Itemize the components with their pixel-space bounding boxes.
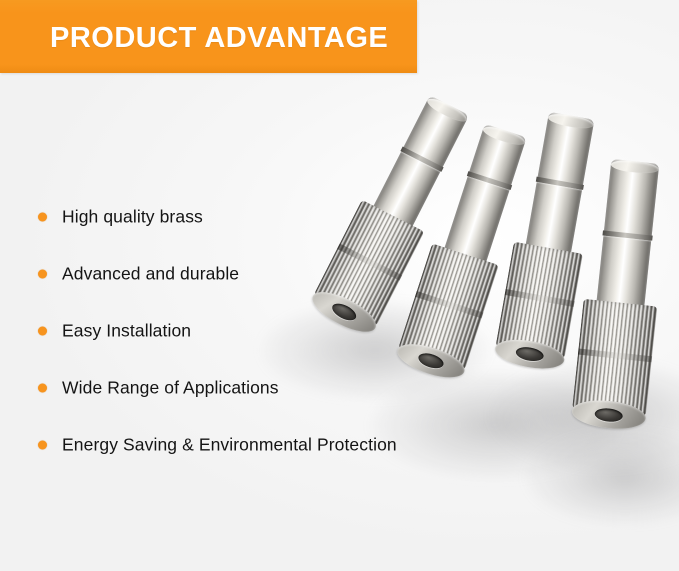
list-item-label: Advanced and durable — [62, 263, 239, 284]
list-item: Easy Installation — [0, 302, 520, 359]
bullet-dot-icon — [38, 212, 47, 221]
nozzle-4-shaft-top — [610, 159, 659, 175]
product-advantage-banner-image: PRODUCT ADVANTAGE High quality brass Adv… — [0, 0, 679, 571]
header-banner: PRODUCT ADVANTAGE — [0, 0, 417, 73]
bullet-dot-icon — [38, 326, 47, 335]
nozzle-4-knurl-band — [578, 349, 652, 363]
list-item-label: Wide Range of Applications — [62, 377, 279, 398]
list-item-label: High quality brass — [62, 206, 203, 227]
list-item: Energy Saving & Environmental Protection — [0, 416, 520, 473]
bullet-dot-icon — [38, 269, 47, 278]
list-item-label: Energy Saving & Environmental Protection — [62, 434, 397, 455]
nozzle-4-knurl — [572, 299, 657, 416]
list-item: Wide Range of Applications — [0, 359, 520, 416]
list-item: High quality brass — [0, 188, 520, 245]
list-item-label: Easy Installation — [62, 320, 191, 341]
nozzle-4-bore — [594, 407, 623, 423]
advantage-list: High quality brass Advanced and durable … — [0, 188, 520, 473]
bullet-dot-icon — [38, 383, 47, 392]
list-item: Advanced and durable — [0, 245, 520, 302]
nozzle-3-shaft-top — [547, 112, 594, 131]
bullet-dot-icon — [38, 440, 47, 449]
page-title: PRODUCT ADVANTAGE — [50, 22, 388, 55]
